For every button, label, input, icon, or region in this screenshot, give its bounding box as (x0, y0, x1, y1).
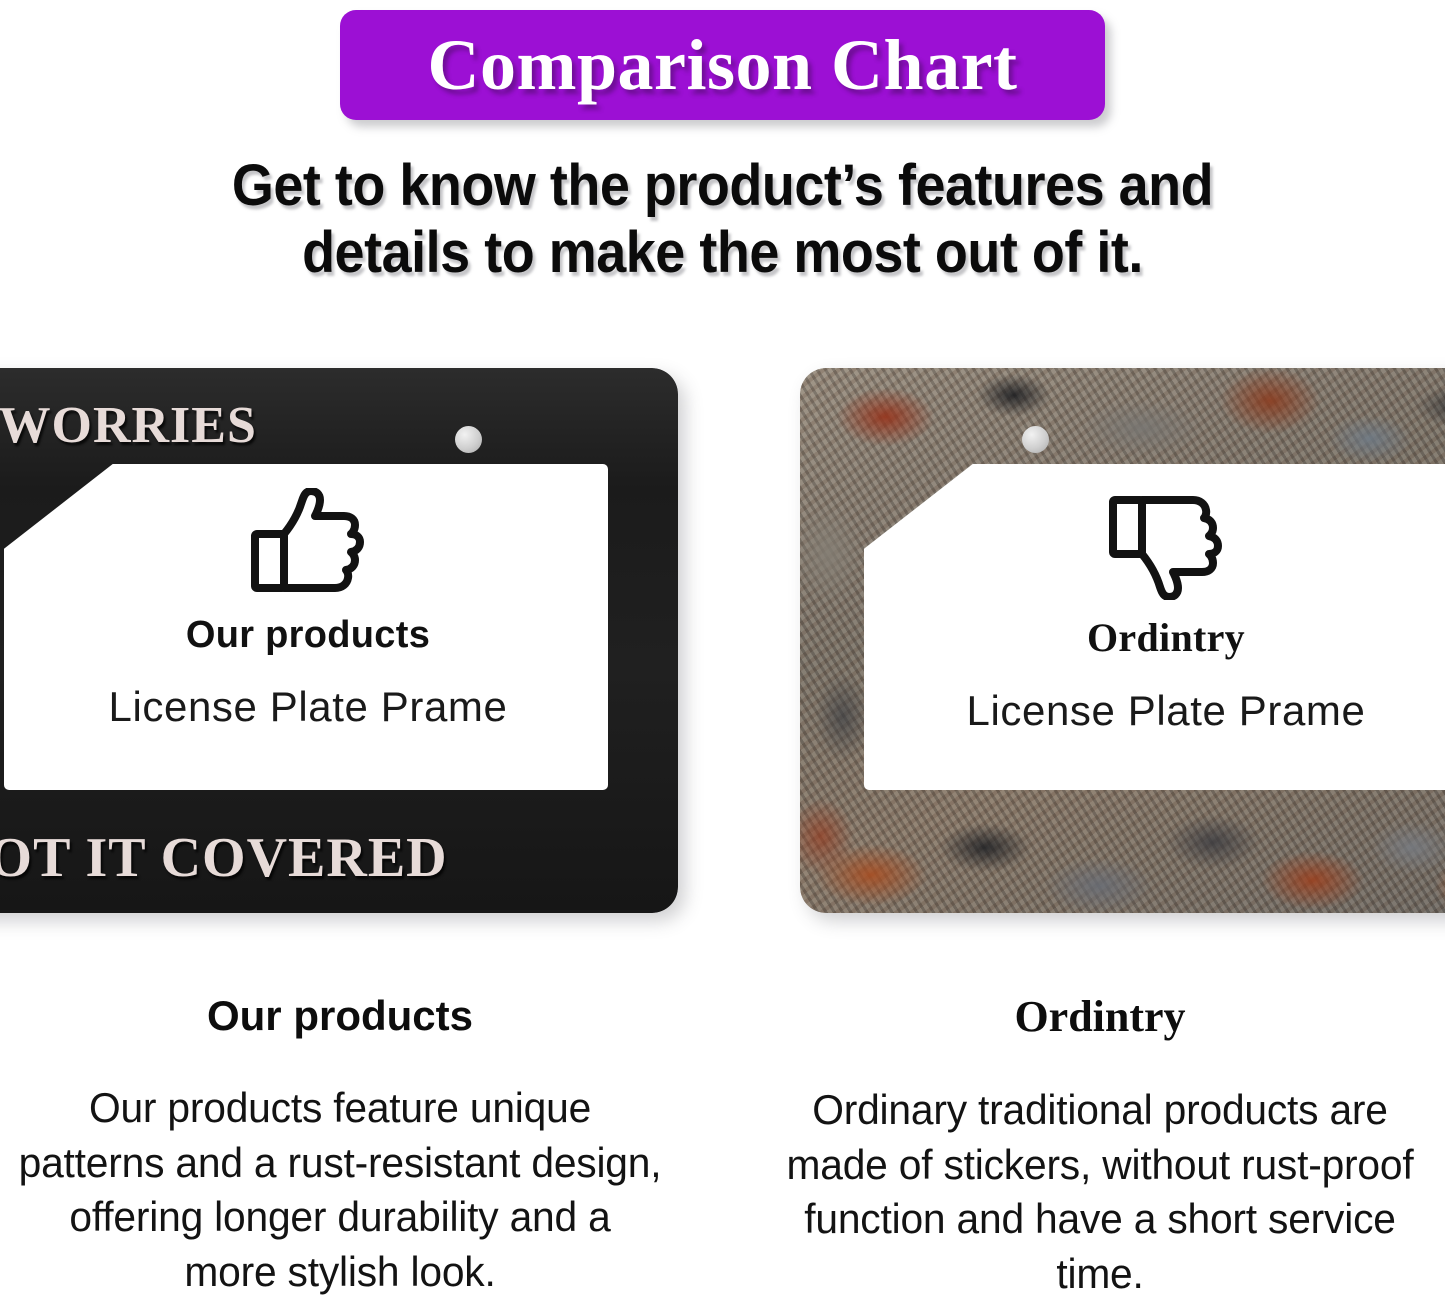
page-title: Comparison Chart (427, 29, 1017, 101)
subtitle-line-2: details to make the most out of it. (51, 219, 1395, 286)
description-column-ours: Our products Our products feature unique… (0, 995, 690, 1299)
description-heading-ours: Our products (0, 995, 690, 1037)
description-body-ours: Our products feature unique patterns and… (1, 1081, 680, 1299)
our-frame-window-content: Our products License Plate Prame (0, 488, 678, 731)
product-comparison-row: O WORRIES GOT IT COVERED Our products Li… (0, 355, 1445, 925)
description-body-ordintry: Ordinary traditional products are made o… (761, 1083, 1440, 1301)
ordintry-frame-window-subheading: License Plate Prame (864, 687, 1445, 735)
our-frame-window-subheading: License Plate Prame (0, 683, 678, 731)
our-frame-window-heading: Our products (0, 614, 678, 657)
description-column-ordintry: Ordintry Ordinary traditional products a… (750, 995, 1445, 1301)
screw-hole-icon (455, 426, 482, 453)
product-image-ordintry-frame: Ordintry License Plate Prame (800, 368, 1445, 913)
plate-slogan-bottom: GOT IT COVERED (0, 830, 678, 886)
comparison-chart-banner: Comparison Chart (340, 10, 1105, 120)
ordintry-frame-window-content: Ordintry License Plate Prame (864, 488, 1445, 735)
page-subtitle: Get to know the product’s features and d… (51, 152, 1395, 287)
screw-hole-icon (1022, 426, 1049, 453)
description-heading-ordintry: Ordintry (750, 995, 1445, 1039)
ordintry-frame-window-heading: Ordintry (864, 614, 1445, 661)
subtitle-line-1: Get to know the product’s features and (51, 152, 1395, 219)
thumbs-down-icon (1107, 488, 1225, 600)
thumbs-up-icon (249, 488, 367, 600)
description-row: Our products Our products feature unique… (0, 995, 1445, 1315)
product-image-our-frame: O WORRIES GOT IT COVERED Our products Li… (0, 368, 678, 913)
plate-slogan-top: O WORRIES (0, 400, 678, 452)
